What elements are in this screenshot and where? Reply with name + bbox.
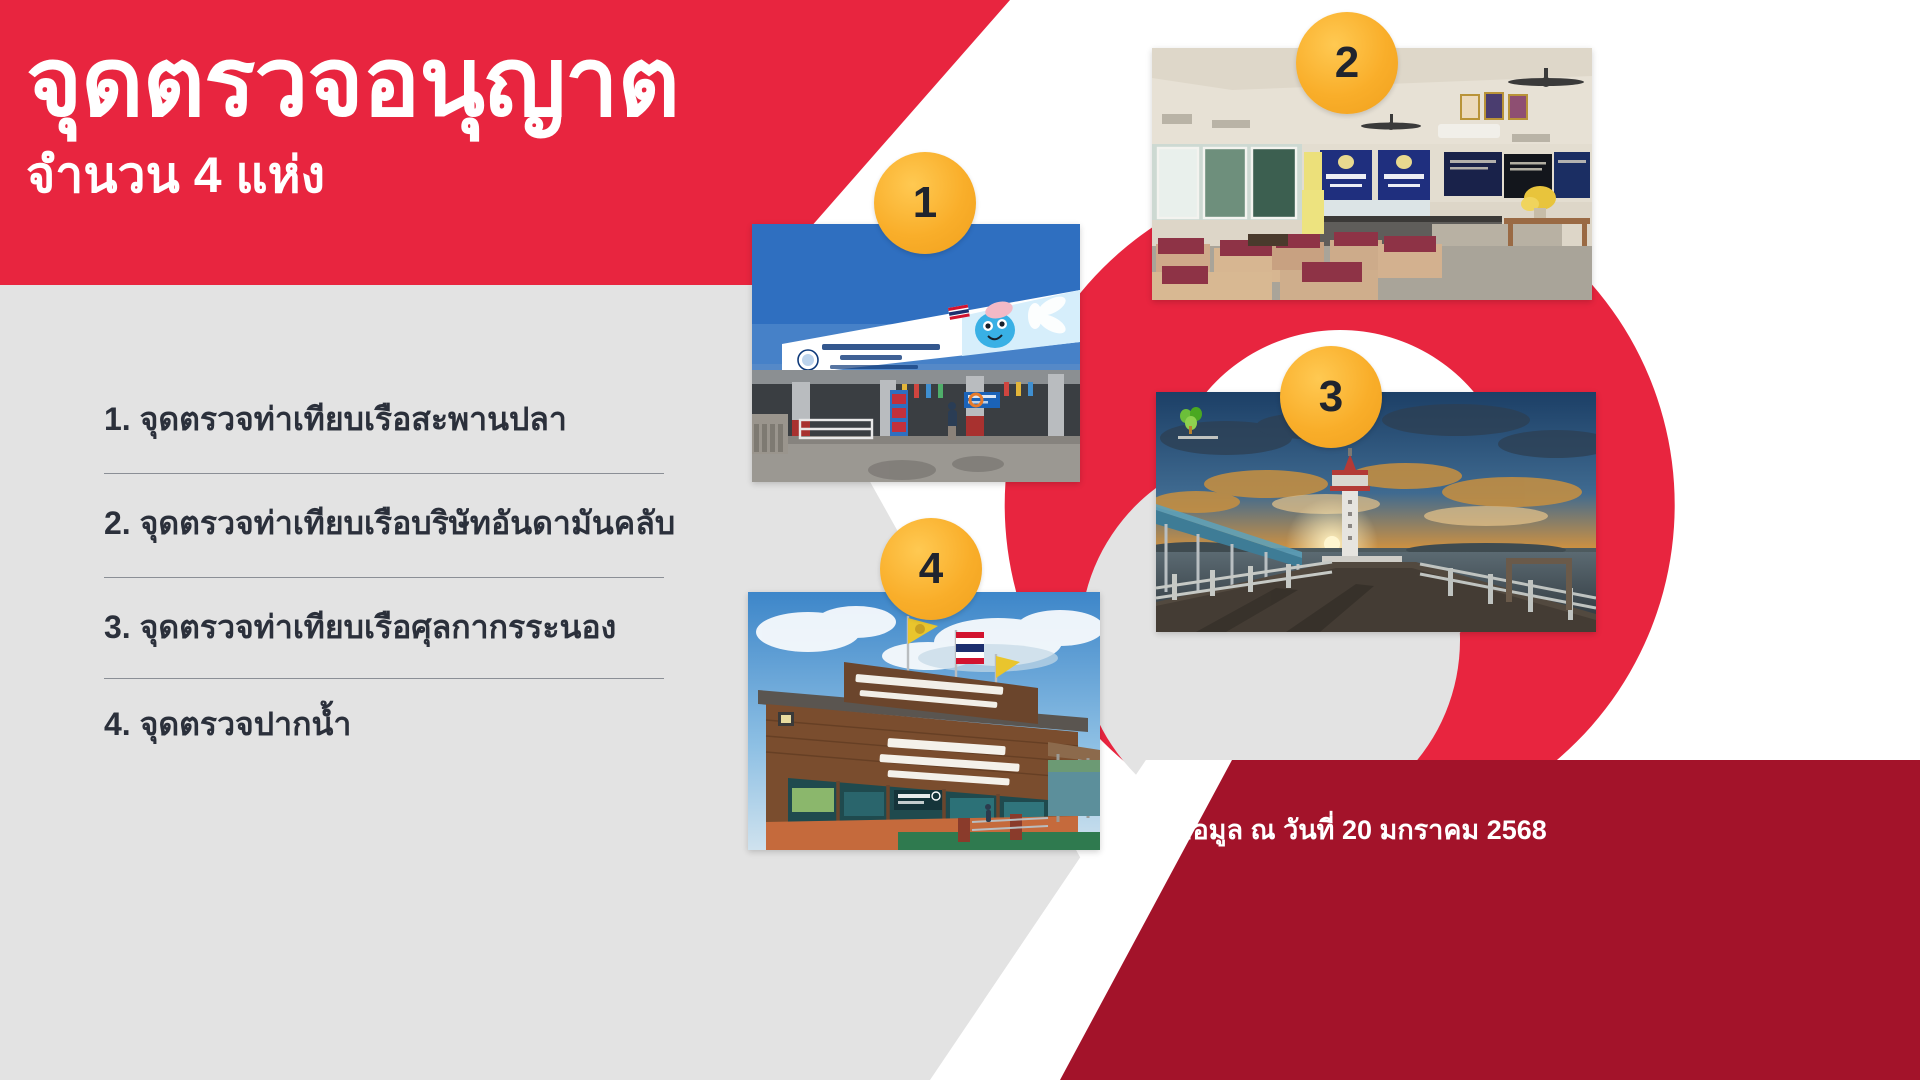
- checkpoint-list: 1. จุดตรวจท่าเทียบเรือสะพานปลา 2. จุดตรว…: [104, 398, 684, 748]
- list-divider: [104, 678, 664, 679]
- photo-checkpoint-3: [1156, 392, 1596, 632]
- photo-checkpoint-4: [748, 592, 1100, 850]
- infographic-canvas: จุดตรวจอนุญาต จำนวน 4 แห่ง 1. จุดตรวจท่า…: [0, 0, 1920, 1080]
- header: จุดตรวจอนุญาต จำนวน 4 แห่ง: [26, 34, 786, 203]
- photo-checkpoint-1: [752, 224, 1080, 482]
- list-item: 2. จุดตรวจท่าเทียบเรือบริษัทอันดามันคลับ: [104, 502, 684, 547]
- page-subtitle: จำนวน 4 แห่ง: [26, 148, 786, 203]
- page-title: จุดตรวจอนุญาต: [26, 34, 786, 132]
- badge-4: 4: [880, 518, 982, 620]
- list-divider: [104, 473, 664, 474]
- list-item: 1. จุดตรวจท่าเทียบเรือสะพานปลา: [104, 398, 684, 443]
- list-item: 4. จุดตรวจปากน้ำ: [104, 703, 684, 748]
- list-item: 3. จุดตรวจท่าเทียบเรือศุลกากรระนอง: [104, 606, 684, 651]
- badge-1: 1: [874, 152, 976, 254]
- footer-date: ข้อมูล ณ วันที่ 20 มกราคม 2568: [1174, 808, 1547, 851]
- badge-3: 3: [1280, 346, 1382, 448]
- list-divider: [104, 577, 664, 578]
- badge-2: 2: [1296, 12, 1398, 114]
